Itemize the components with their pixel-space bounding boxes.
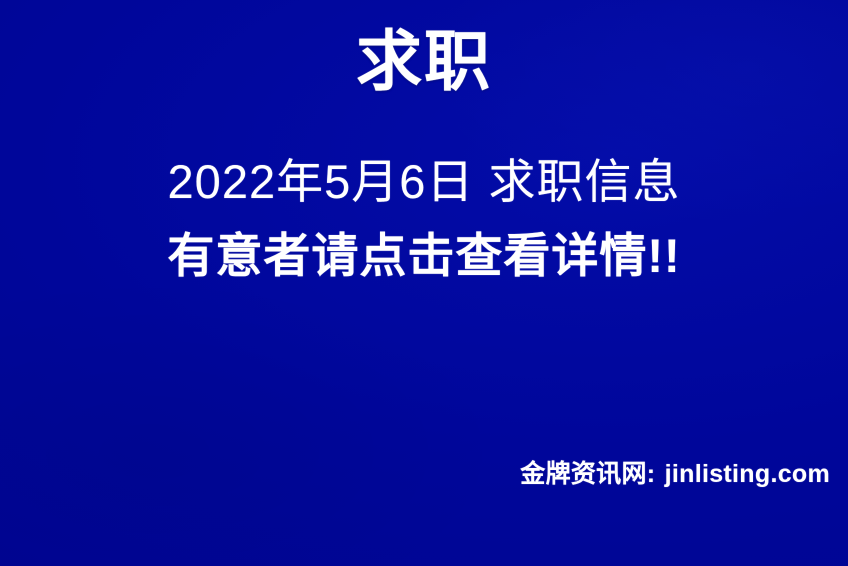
poster-call-to-action: 有意者请点击查看详情!! — [0, 226, 848, 286]
job-listing-poster: 求职 2022年5月6日 求职信息 有意者请点击查看详情!! 金牌资讯网: ji… — [0, 0, 848, 566]
footer-website-url: jinlisting.com — [665, 460, 830, 488]
poster-date-line: 2022年5月6日 求职信息 — [0, 152, 848, 212]
poster-title: 求职 — [0, 28, 848, 94]
footer-brand-label: 金牌资讯网: — [520, 460, 655, 488]
poster-body: 2022年5月6日 求职信息 有意者请点击查看详情!! — [0, 152, 848, 286]
poster-footer: 金牌资讯网: jinlisting.com — [0, 458, 830, 490]
